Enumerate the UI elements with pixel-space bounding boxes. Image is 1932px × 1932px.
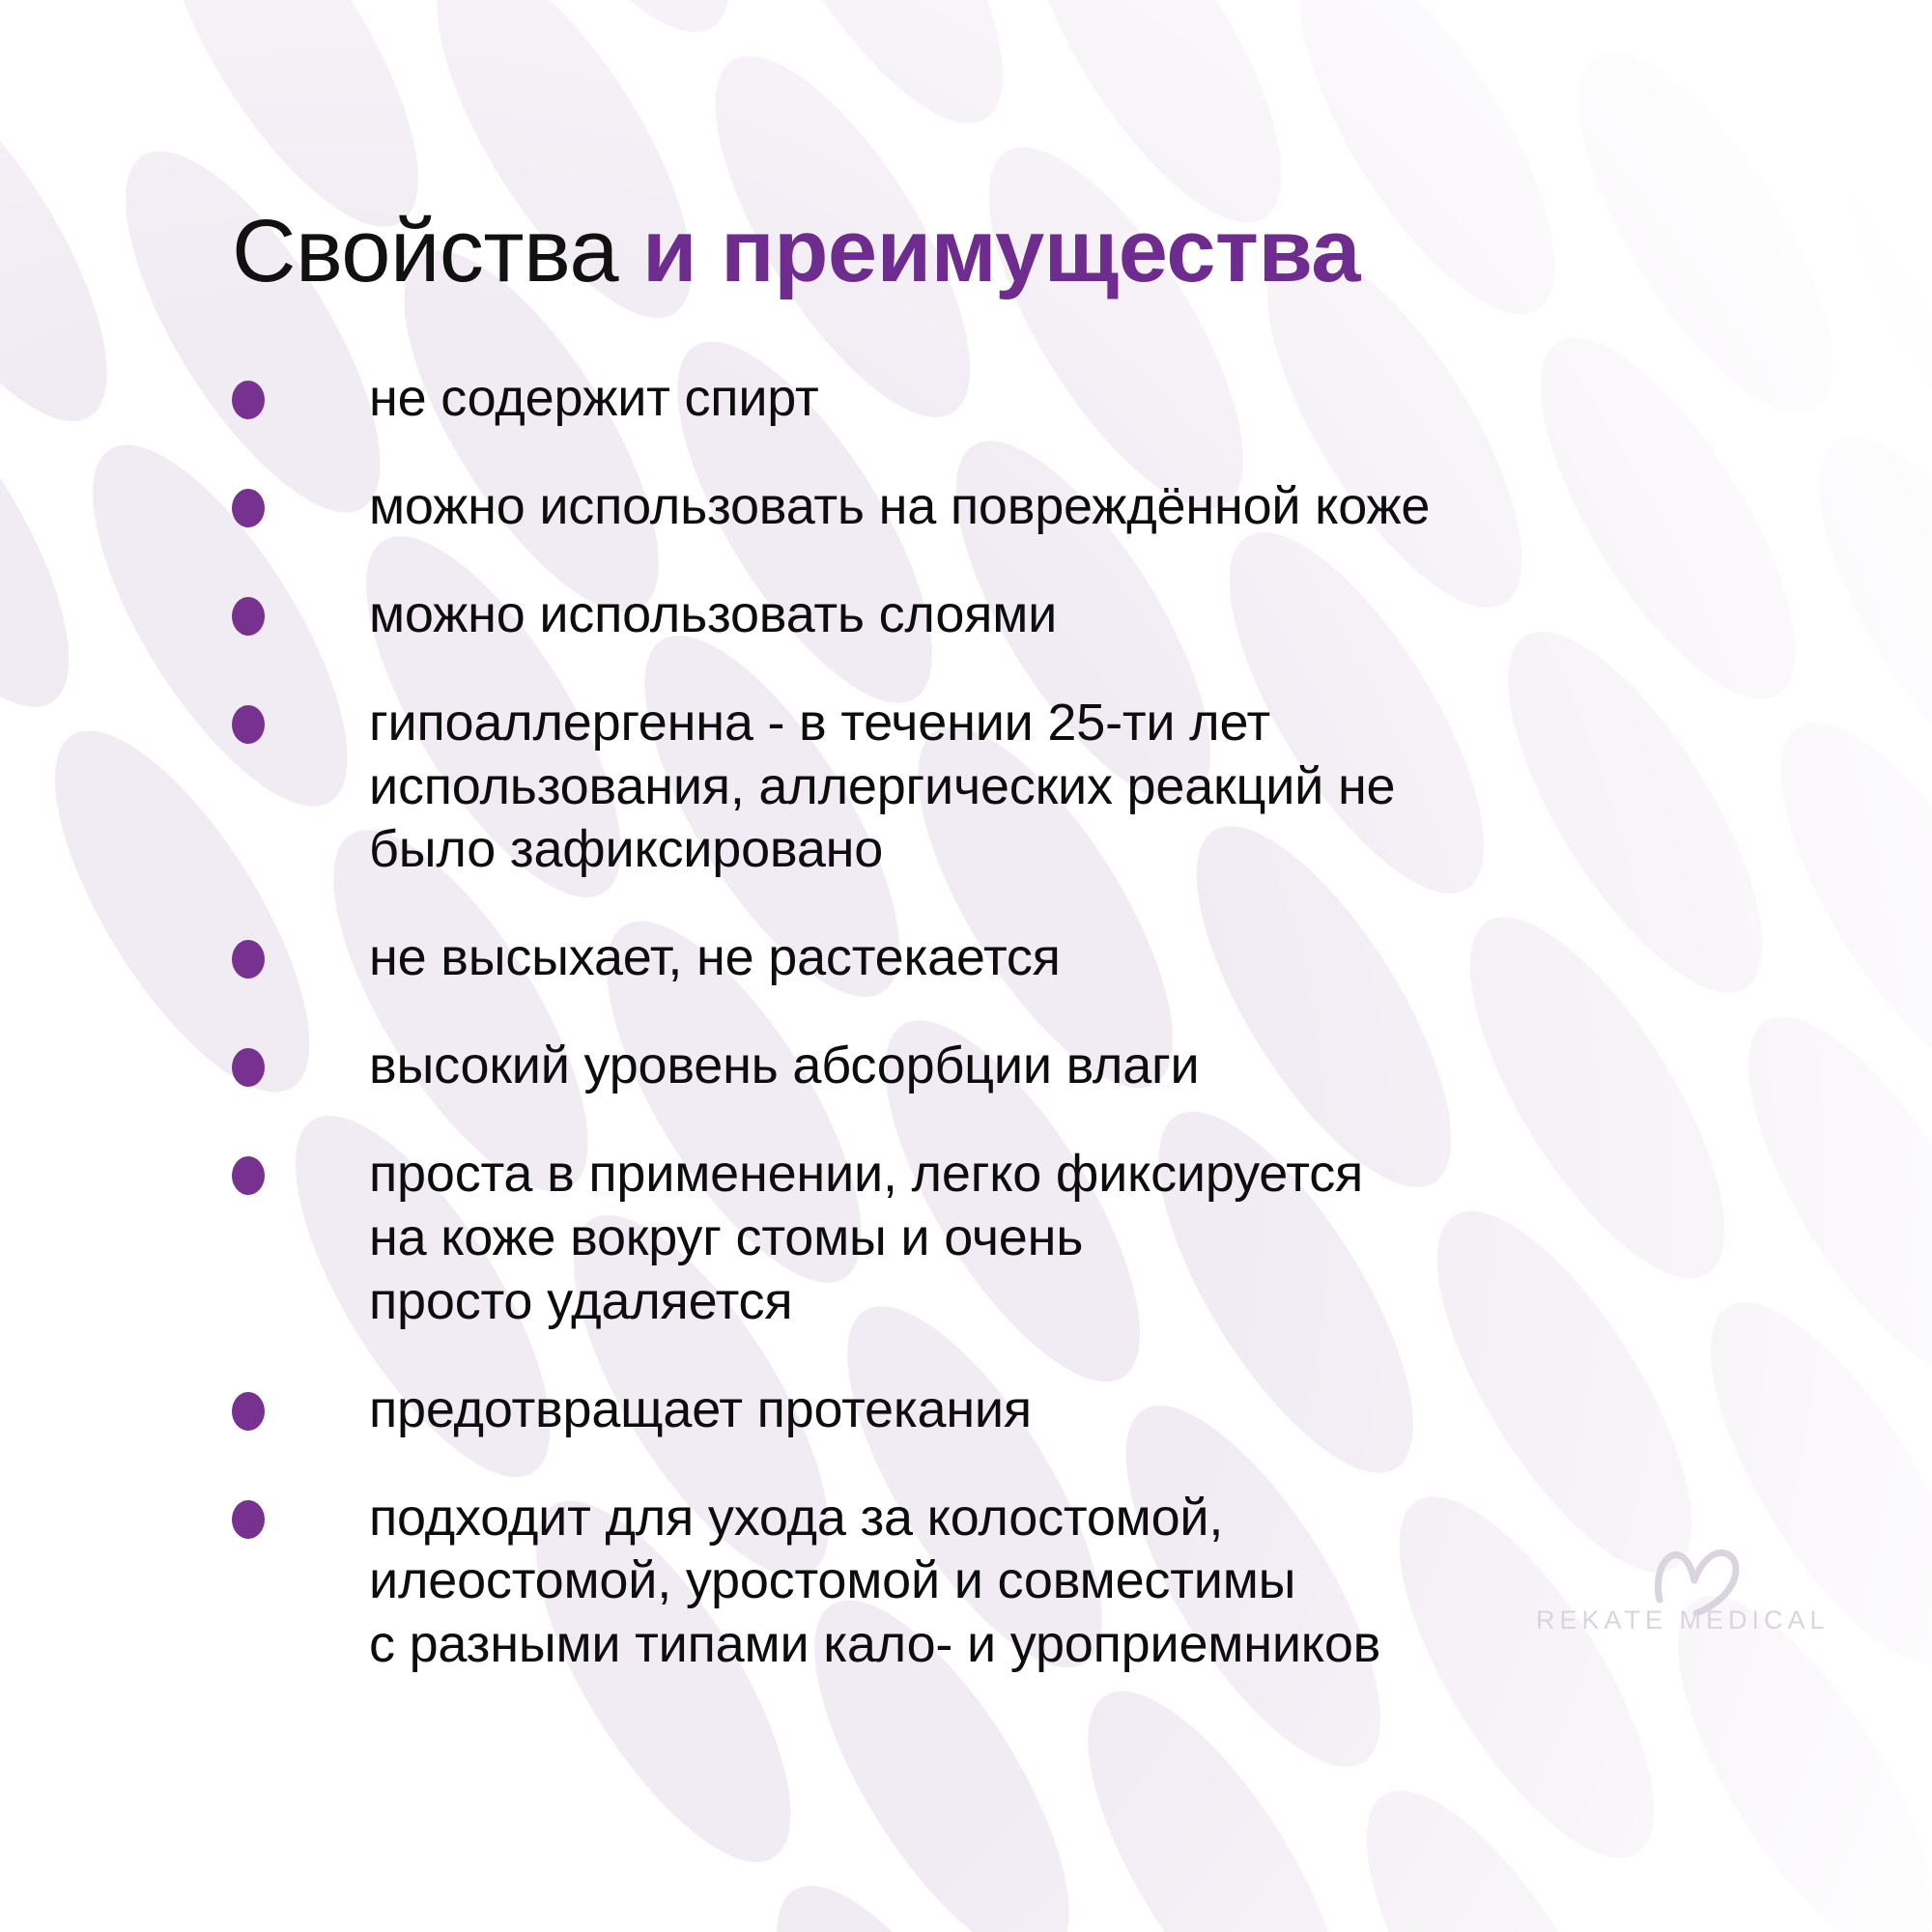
list-item: не высыхает, не растекается [232, 926, 1874, 990]
list-item: гипоаллергенна - в течении 25-ти лет исп… [232, 692, 1874, 883]
list-item-line: проста в применении, легко фиксируется [369, 1143, 1874, 1207]
list-item: предотвращает протекания [232, 1378, 1874, 1442]
bullet-dot-icon [232, 597, 265, 636]
list-item: можно использовать слоями [232, 583, 1874, 647]
bullet-dot-icon [232, 940, 265, 979]
list-item: можно использовать на повреждённой коже [232, 475, 1874, 539]
list-item-line: на коже вокруг стомы и очень [369, 1207, 1874, 1270]
page-title-accent: и преимущества [642, 202, 1360, 300]
list-item-text: не содержит спирт [369, 367, 1874, 431]
list-item-line: было зафиксировано [369, 818, 1874, 882]
list-item: проста в применении, легко фиксируется н… [232, 1143, 1874, 1334]
list-item-text: высокий уровень абсорбции влаги [369, 1035, 1874, 1098]
list-item: не содержит спирт [232, 367, 1874, 431]
list-item-line: илеостомой, уростомой и совместимы [369, 1549, 1874, 1613]
list-item-text: предотвращает протекания [369, 1378, 1874, 1442]
list-item-text: не высыхает, не растекается [369, 926, 1874, 990]
slide-root: REKATE MEDICAL Свойства и преимущества н… [0, 0, 1932, 1932]
bullet-dot-icon [232, 1500, 265, 1539]
bullet-dot-icon [232, 381, 265, 419]
list-item-line: высокий уровень абсорбции влаги [369, 1035, 1874, 1098]
bullet-dot-icon [232, 1048, 265, 1087]
list-item-line: использования, аллергических реакций не [369, 755, 1874, 819]
list-item-text: гипоаллергенна - в течении 25-ти лет исп… [369, 692, 1874, 883]
list-item-line: не содержит спирт [369, 367, 1874, 431]
list-item-line: гипоаллергенна - в течении 25-ти лет [369, 692, 1874, 755]
page-title-plain: Свойства [232, 202, 642, 300]
bullet-dot-icon [232, 705, 265, 744]
bullet-dot-icon [232, 489, 265, 527]
list-item-line: можно использовать слоями [369, 583, 1874, 647]
list-item-line: не высыхает, не растекается [369, 926, 1874, 990]
list-item: подходит для ухода за колостомой, илеост… [232, 1487, 1874, 1678]
bullet-dot-icon [232, 1392, 265, 1431]
slide-content: Свойства и преимущества не содержит спир… [0, 0, 1932, 1932]
list-item-line: можно использовать на повреждённой коже [369, 475, 1874, 539]
page-title: Свойства и преимущества [232, 205, 1360, 298]
benefits-list: не содержит спирт можно использовать на … [232, 367, 1874, 1721]
list-item-text: можно использовать на повреждённой коже [369, 475, 1874, 539]
list-item-line: подходит для ухода за колостомой, [369, 1487, 1874, 1550]
list-item-line: с разными типами кало- и уроприемников [369, 1613, 1874, 1677]
list-item-line: просто удаляется [369, 1270, 1874, 1334]
list-item-text: подходит для ухода за колостомой, илеост… [369, 1487, 1874, 1678]
list-item-text: можно использовать слоями [369, 583, 1874, 647]
bullet-dot-icon [232, 1156, 265, 1195]
list-item-line: предотвращает протекания [369, 1378, 1874, 1442]
list-item: высокий уровень абсорбции влаги [232, 1035, 1874, 1098]
list-item-text: проста в применении, легко фиксируется н… [369, 1143, 1874, 1334]
